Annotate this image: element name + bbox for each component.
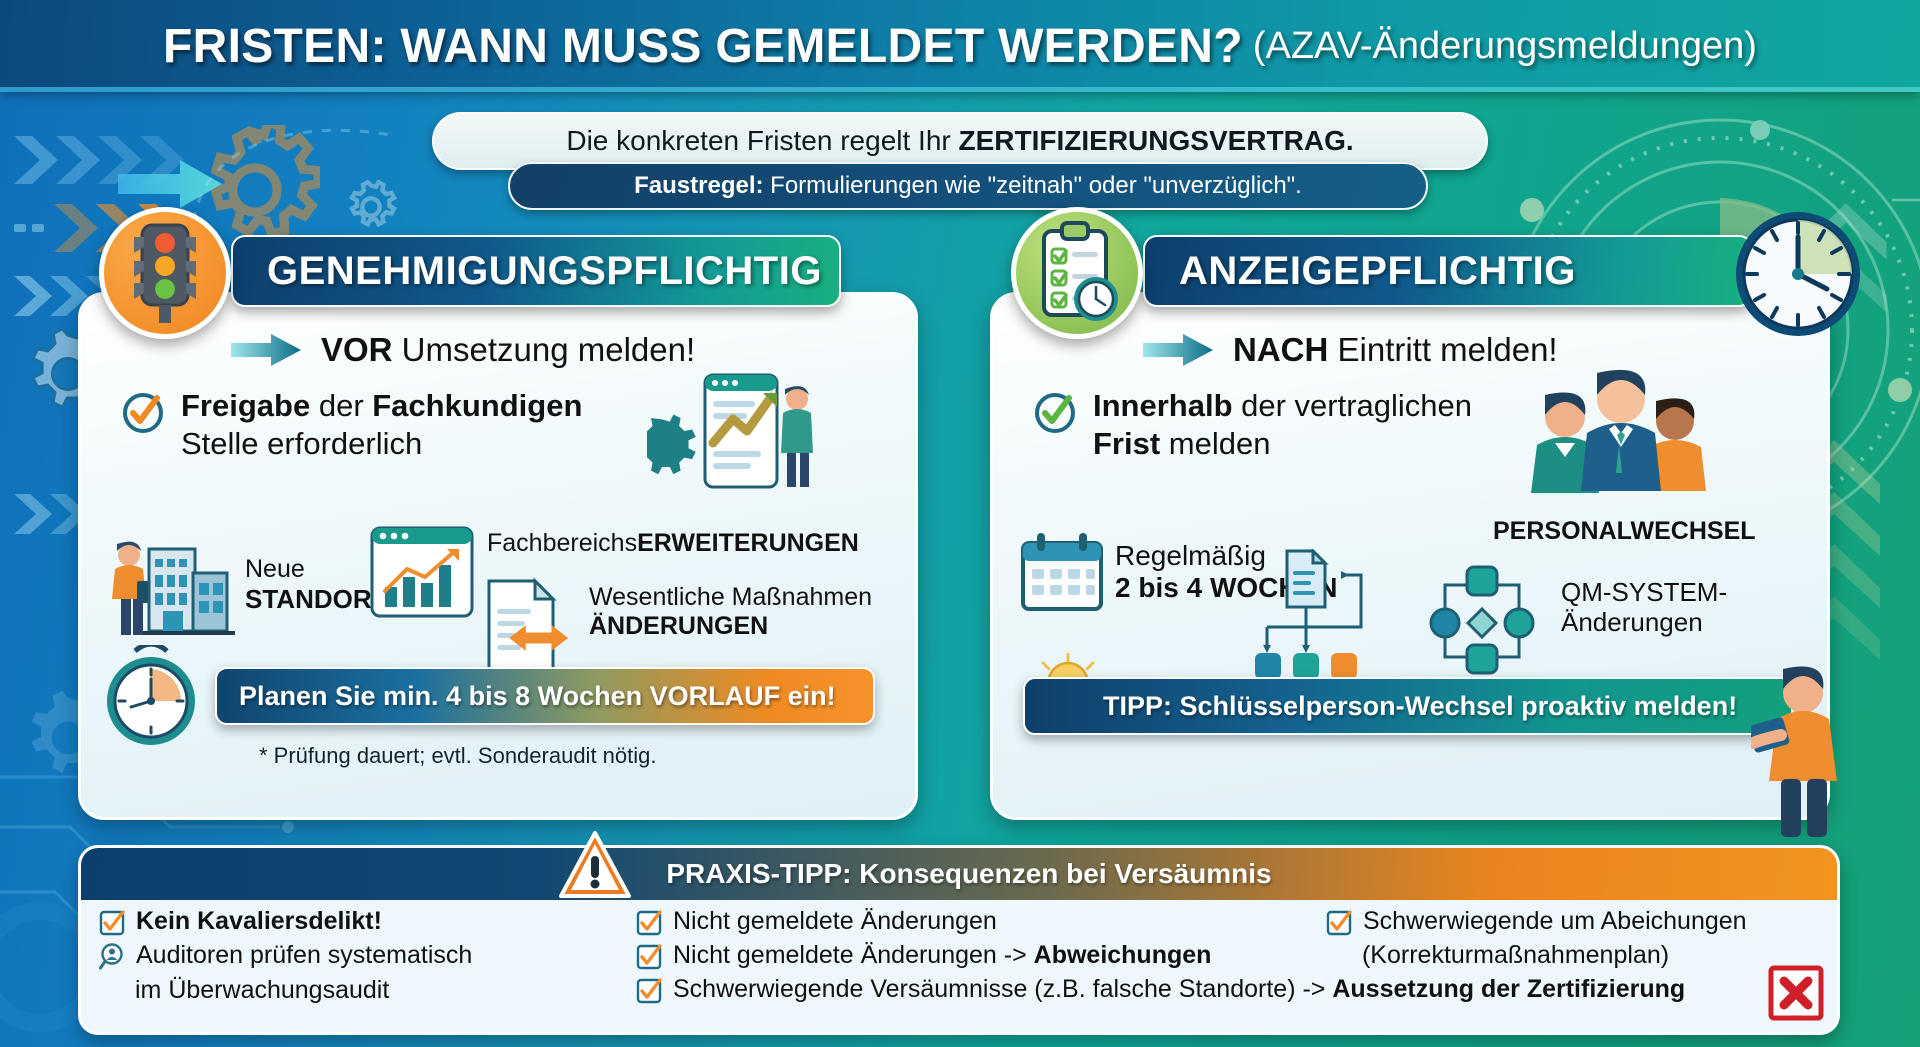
list-item-label: Nicht gemeldete Änderungen (673, 906, 997, 936)
praxis-tipp-panel: PRAXIS-TIPP: Konsequenzen bei Versäumnis… (78, 845, 1840, 1035)
left-card-timing-text: VOR Umsetzung melden! (321, 331, 695, 369)
left-card-banner: Planen Sie min. 4 bis 8 Wochen VORLAUF e… (215, 667, 875, 725)
consequences-column-1: Kein Kavaliersdelikt! Auditoren prüfen s… (81, 906, 618, 1008)
right-item-qm: QM-SYSTEM-Änderungen (1561, 577, 1727, 637)
praxis-tipp-columns: Kein Kavaliersdelikt! Auditoren prüfen s… (81, 906, 1837, 1008)
check-box-icon (636, 944, 662, 970)
right-card-timing-text: NACH Eintritt melden! (1233, 331, 1558, 369)
right-card-bullet: Innerhalb der vertraglichen Frist melden (1033, 387, 1553, 464)
clock-icon (1733, 209, 1863, 339)
list-item: Schwerwiegende um Abeichungen (1326, 906, 1837, 936)
left-card-title: GENEHMIGUNGSPFLICHTIG (267, 249, 822, 294)
list-item-label: Auditoren prüfen systematisch (136, 940, 472, 970)
praxis-tipp-title: PRAXIS-TIPP: Konsequenzen bei Versäumnis (666, 858, 1271, 890)
right-card-bullet-text: Innerhalb der vertraglichen Frist melden (1093, 387, 1472, 464)
warning-triangle-icon (559, 830, 631, 902)
left-card-header: GENEHMIGUNGSPFLICHTIG (231, 235, 841, 307)
left-item-aenderungen: Wesentliche MaßnahmenÄNDERUNGEN (483, 577, 872, 673)
list-item-label: Schwerwiegende um Abeichungen (1363, 906, 1747, 936)
left-item-standorte: NeueSTANDORTE (103, 533, 405, 637)
right-card-timing-line: NACH Eintritt melden! (1143, 331, 1558, 369)
red-x-box-icon (1767, 964, 1825, 1022)
list-item: Nicht gemeldete Änderungen -> Abweichung… (636, 940, 1308, 970)
praxis-tipp-header: PRAXIS-TIPP: Konsequenzen bei Versäumnis (81, 848, 1837, 900)
consequences-column-3: Schwerwiegende um Abeichungen (Korrektur… (1308, 906, 1837, 1008)
left-card-timing-line: VOR Umsetzung melden! (231, 331, 695, 369)
office-building-icon (103, 533, 235, 637)
arrow-right-icon (118, 158, 228, 210)
right-card-title: ANZEIGEPFLICHTIG (1179, 249, 1576, 294)
dotted-arc-icon (182, 110, 412, 250)
calendar-icon (1019, 531, 1105, 613)
document-flow-icon (1253, 549, 1413, 681)
check-box-icon (99, 910, 125, 936)
arrow-right-icon (231, 333, 303, 367)
traffic-light-icon (99, 207, 231, 339)
right-card-banner-text: TIPP: Schlüsselperson-Wechsel proaktiv m… (1103, 691, 1737, 722)
page-subtitle: (AZAV-Änderungsmeldungen) (1253, 25, 1757, 68)
bar-chart-window-icon (369, 525, 477, 621)
right-card-header: ANZEIGEPFLICHTIG (1143, 235, 1753, 307)
rule-of-thumb-banner: Faustregel: Formulierungen wie "zeitnah"… (508, 162, 1428, 210)
right-item-qm-label: QM-SYSTEM-Änderungen (1561, 577, 1727, 637)
page-title: FRISTEN: WANN MUSS GEMELDET WERDEN? (163, 19, 1243, 74)
check-box-icon (1326, 910, 1352, 936)
person-with-tablet-illustration (1751, 663, 1871, 843)
list-item-label: Kein Kavaliersdelikt! (136, 906, 382, 936)
left-card-bullet-text: Freigabe der Fachkundigen Stelle erforde… (181, 387, 582, 464)
page-header: FRISTEN: WANN MUSS GEMELDET WERDEN? (AZA… (0, 0, 1920, 92)
left-card-banner-text: Planen Sie min. 4 bis 8 Wochen VORLAUF e… (239, 681, 836, 712)
check-circle-icon (121, 391, 165, 435)
check-box-icon (636, 910, 662, 936)
list-item: Kein Kavaliersdelikt! (99, 906, 618, 936)
right-item-personalwechsel: PERSONALWECHSEL (1493, 517, 1756, 546)
left-item-aenderungen-label: Wesentliche MaßnahmenÄNDERUNGEN (589, 583, 872, 641)
list-item-label: Nicht gemeldete Änderungen -> Abweichung… (673, 940, 1211, 970)
list-item: Auditoren prüfen systematisch (99, 940, 618, 971)
checklist-clipboard-icon (1011, 207, 1143, 339)
consequences-column-2: Nicht gemeldete Änderungen Nicht gemelde… (618, 906, 1308, 1008)
clock-icon (99, 645, 203, 749)
card-anzeigepflichtig: ANZEIGEPFLICHTIG (990, 292, 1830, 820)
left-item-erweiterungen-label: FachbereichsERWEITERUNGEN (487, 529, 859, 558)
chevron-arrows-icon (14, 130, 224, 190)
rule-of-thumb-text: Faustregel: Formulierungen wie "zeitnah"… (634, 172, 1302, 200)
check-box-icon (636, 978, 662, 1004)
magnifier-person-icon (99, 943, 125, 971)
list-item-continuation: im Überwachungsaudit (99, 975, 618, 1005)
check-circle-icon (1033, 391, 1077, 435)
gear-icon (344, 180, 398, 239)
left-card-footnote: * Prüfung dauert; evtl. Sonderaudit nöti… (259, 743, 656, 769)
people-group-icon (1527, 369, 1717, 495)
right-item-personalwechsel-label: PERSONALWECHSEL (1493, 517, 1756, 546)
contract-note-text: Die konkreten Fristen regelt Ihr ZERTIFI… (566, 125, 1353, 157)
card-genehmigungspflichtig: GENEHMIGUNGSPFLICHTIG VOR Umsetzung meld… (78, 292, 918, 820)
right-card-banner: TIPP: Schlüsselperson-Wechsel proaktiv m… (1023, 677, 1793, 735)
arrow-right-icon (1143, 333, 1215, 367)
list-item-continuation: (Korrekturmaßnahmenplan) (1326, 940, 1837, 970)
flowchart-icon (1423, 563, 1553, 681)
document-growth-illustration (647, 373, 837, 493)
document-swap-icon (483, 577, 579, 673)
left-card-bullet: Freigabe der Fachkundigen Stelle erforde… (121, 387, 641, 464)
list-item: Nicht gemeldete Änderungen (636, 906, 1308, 936)
